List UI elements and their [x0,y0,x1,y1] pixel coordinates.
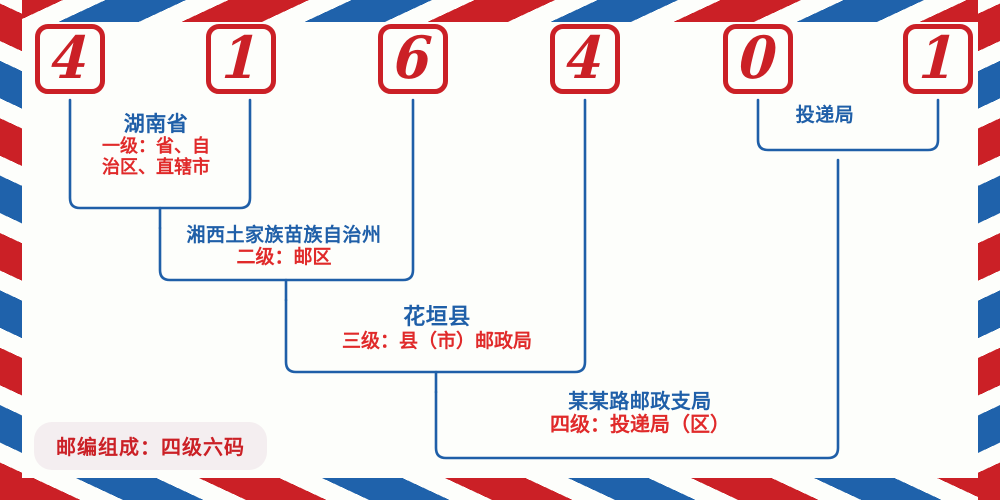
digit-box-1[interactable]: 4 [35,24,105,94]
callout-level-2: 湘西土家族苗族自治州 二级：邮区 [158,225,410,270]
digit-glyph-2: 1 [221,30,262,88]
digit-glyph-1: 4 [50,30,91,88]
digit-glyph-5: 0 [738,30,779,88]
callout-level-1-subtitle-line2: 治区、直辖市 [72,157,240,179]
digit-box-4[interactable]: 4 [550,24,620,94]
callout-level-3: 花垣县 三级：县（市）邮政局 [292,305,582,353]
digit-box-3[interactable]: 6 [378,24,448,94]
callout-level-1-subtitle-line1: 一级：省、自 [72,136,240,158]
legend-badge: 邮编组成：四级六码 [34,422,267,470]
callout-level-4-subtitle: 四级：投递局（区） [470,412,810,437]
callout-level-2-title: 湘西土家族苗族自治州 [158,225,410,246]
callout-level-3-title: 花垣县 [292,305,582,330]
digit-box-5[interactable]: 0 [723,24,793,94]
callout-level-5: 投递局 [740,105,910,126]
callout-level-2-subtitle: 二级：邮区 [158,246,410,270]
callout-level-4-title: 某某路邮政支局 [470,390,810,412]
callout-level-5-title: 投递局 [740,105,910,126]
callout-level-4: 某某路邮政支局 四级：投递局（区） [470,390,810,437]
digit-glyph-6: 1 [918,30,959,88]
postcode-diagram: 4 1 6 4 0 1 湖南省 一级：省、自 治区、直辖市 湘西土家族苗族自治州… [0,0,1000,500]
callout-level-1-title: 湖南省 [72,112,240,136]
digit-glyph-4: 4 [565,30,606,88]
digit-box-6[interactable]: 1 [903,24,973,94]
digit-glyph-3: 6 [393,30,434,88]
callout-level-3-subtitle: 三级：县（市）邮政局 [292,330,582,354]
digit-box-2[interactable]: 1 [206,24,276,94]
callout-level-1: 湖南省 一级：省、自 治区、直辖市 [72,112,240,179]
legend-badge-text: 邮编组成：四级六码 [56,431,245,460]
